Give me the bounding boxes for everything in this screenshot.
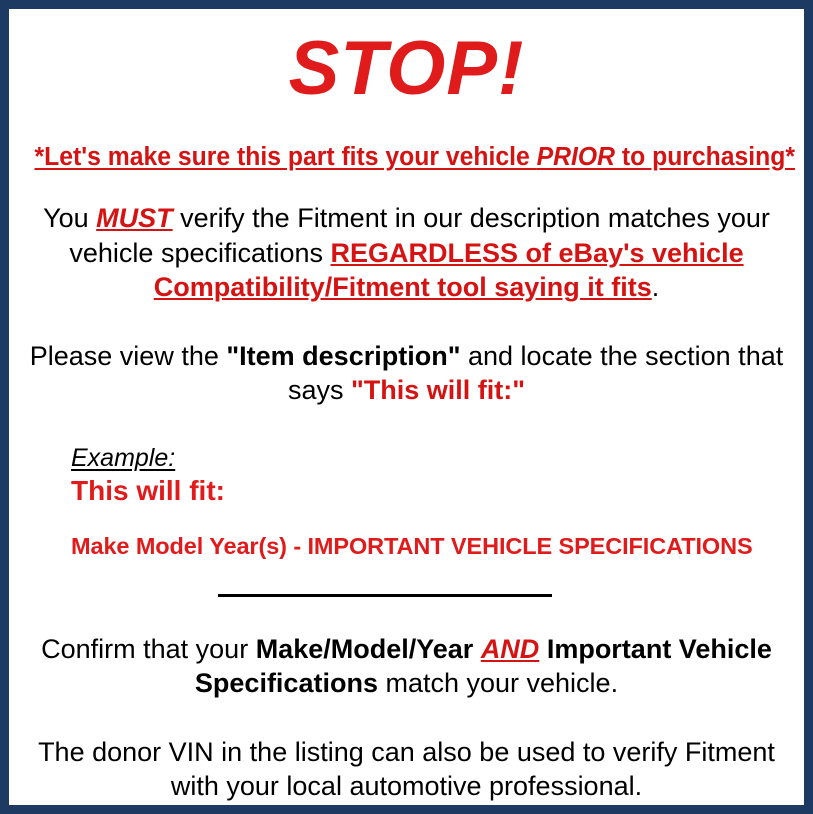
- subtitle-prefix: *Let's make sure this part fits your veh…: [35, 143, 537, 171]
- example-label: Example:: [71, 444, 790, 473]
- this-will-fit-emphasis: "This will fit:": [351, 375, 525, 405]
- confirm-part2: match your vehicle.: [378, 668, 618, 698]
- donor-vin-paragraph: The donor VIN in the listing can also be…: [23, 735, 790, 804]
- subtitle-emphasis: PRIOR: [537, 143, 615, 171]
- description-part1: Please view the: [30, 341, 227, 371]
- subtitle-banner: *Let's make sure this part fits your veh…: [35, 143, 779, 171]
- item-description-emphasis: "Item description": [226, 341, 460, 371]
- must-paragraph-part1: You: [43, 203, 96, 233]
- page-title: STOP!: [23, 31, 790, 107]
- must-paragraph-part3: .: [652, 272, 660, 302]
- fitment-notice-card: STOP! *Let's make sure this part fits yo…: [0, 0, 813, 814]
- must-verify-paragraph: You MUST verify the Fitment in our descr…: [23, 201, 790, 305]
- must-emphasis: MUST: [96, 203, 173, 233]
- confirm-paragraph: Confirm that your Make/Model/Year AND Im…: [23, 632, 790, 701]
- confirm-part1: Confirm that your: [41, 634, 256, 664]
- and-emphasis: AND: [481, 634, 540, 664]
- divider-rule: [218, 594, 552, 597]
- example-spec-line: Make Model Year(s) - IMPORTANT VEHICLE S…: [71, 533, 790, 560]
- example-fit-heading: This will fit:: [71, 475, 790, 507]
- example-block: Example: This will fit: Make Model Year(…: [23, 444, 790, 560]
- make-model-year-emphasis: Make/Model/Year: [256, 634, 474, 664]
- item-description-paragraph: Please view the "Item description" and l…: [23, 339, 790, 408]
- section-divider: [23, 584, 790, 602]
- subtitle-suffix: to purchasing*: [615, 143, 795, 171]
